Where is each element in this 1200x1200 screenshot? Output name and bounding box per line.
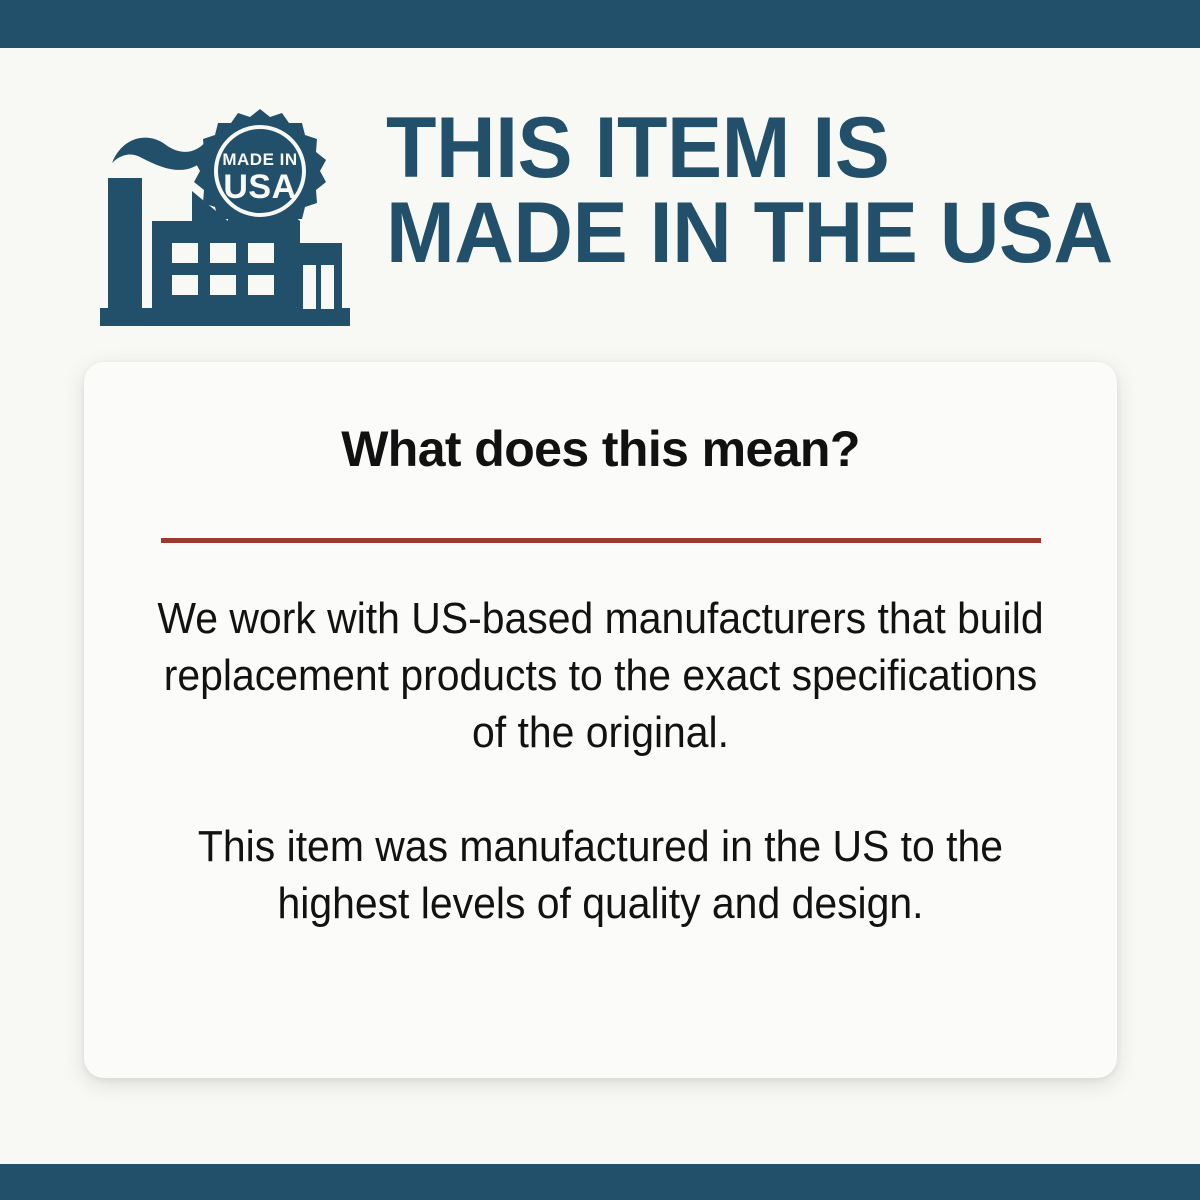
card-paragraph-2: This item was manufactured in the US to … bbox=[157, 818, 1043, 932]
card-paragraph-1: We work with US-based manufacturers that… bbox=[157, 590, 1043, 762]
made-in-usa-logo: MADE IN USA bbox=[100, 103, 350, 333]
headline-line-1: THIS ITEM IS bbox=[386, 106, 1144, 191]
card-body: We work with US-based manufacturers that… bbox=[157, 590, 1043, 932]
info-card: What does this mean? We work with US-bas… bbox=[84, 362, 1117, 1078]
bottom-accent-band bbox=[0, 1164, 1200, 1200]
headline: THIS ITEM IS MADE IN THE USA bbox=[386, 106, 1144, 276]
promo-banner: MADE IN USA THIS ITEM IS MADE IN THE USA… bbox=[0, 0, 1200, 1200]
card-heading: What does this mean? bbox=[84, 420, 1117, 478]
badge-line1: MADE IN bbox=[222, 150, 297, 169]
top-accent-band bbox=[0, 0, 1200, 48]
header-section: MADE IN USA THIS ITEM IS MADE IN THE USA bbox=[0, 48, 1200, 348]
badge-line2: USA bbox=[223, 168, 296, 206]
factory-icon: MADE IN USA bbox=[100, 103, 350, 333]
card-divider bbox=[161, 538, 1041, 543]
headline-line-2: MADE IN THE USA bbox=[386, 191, 1144, 276]
